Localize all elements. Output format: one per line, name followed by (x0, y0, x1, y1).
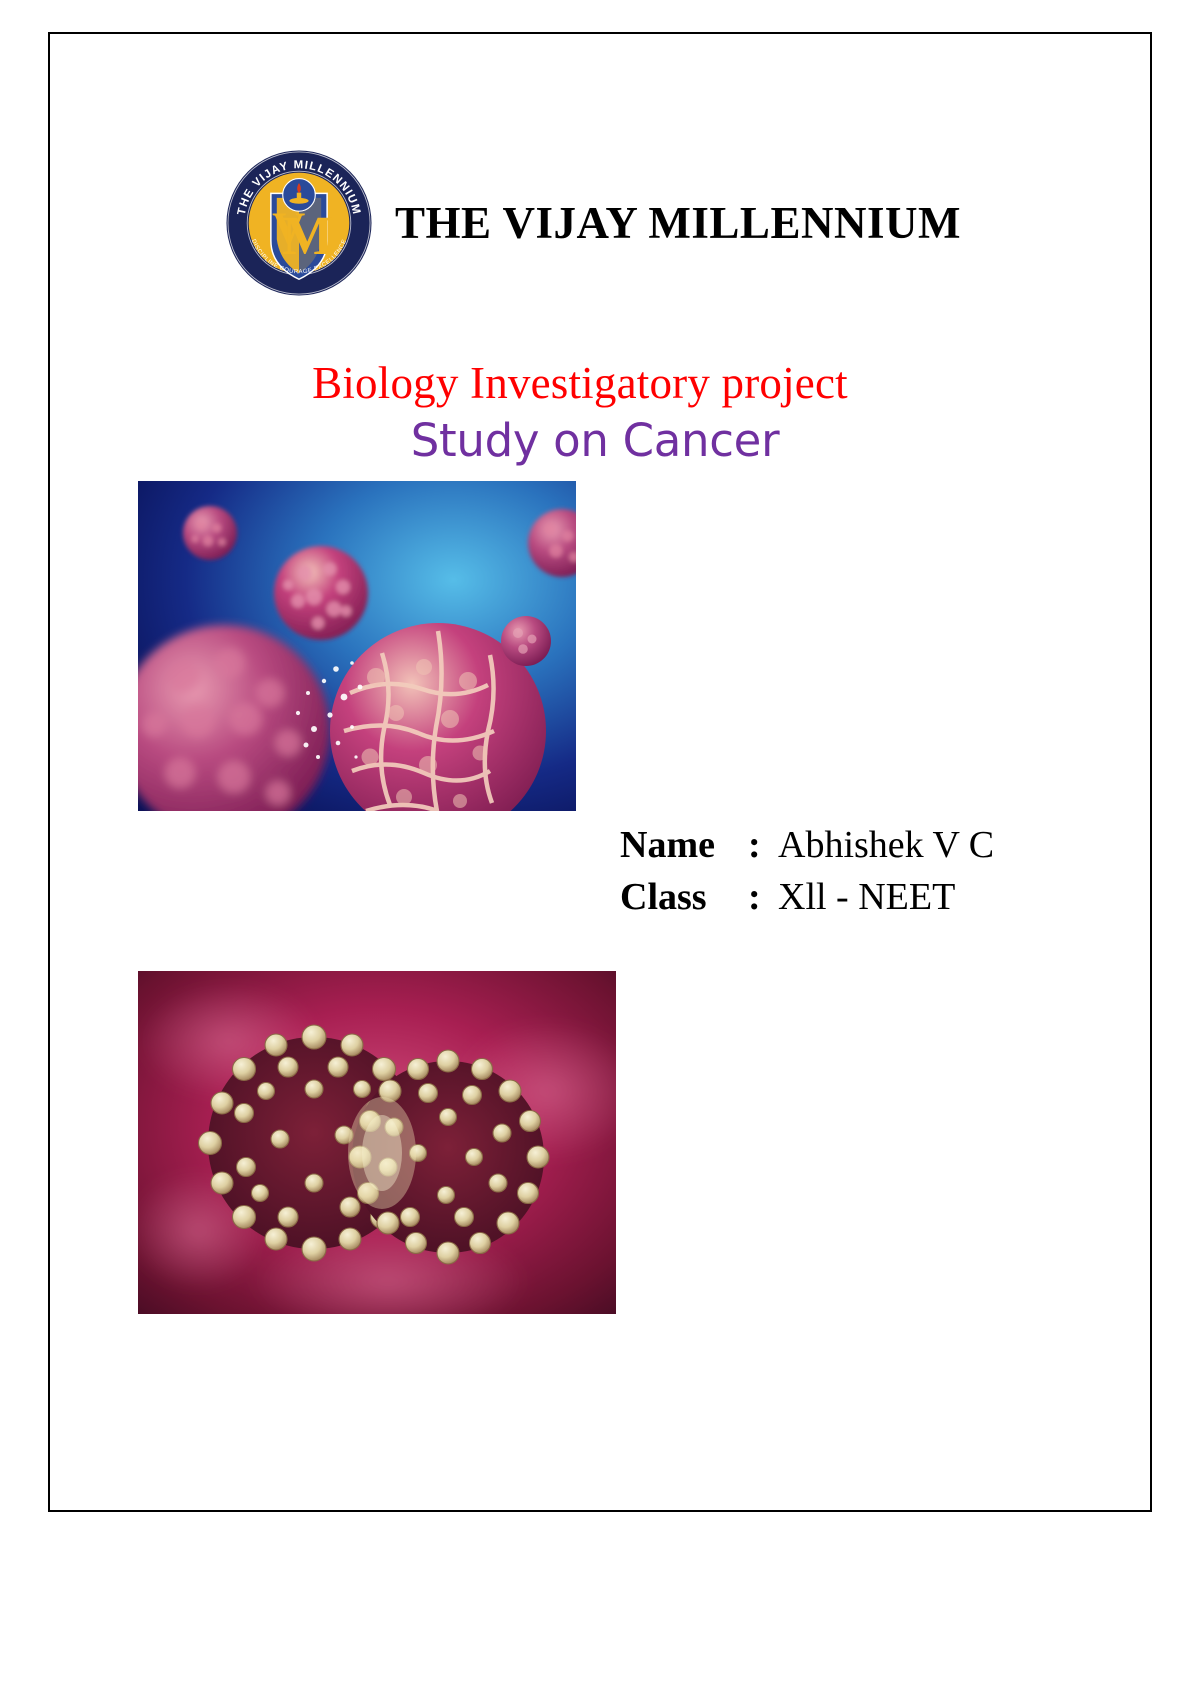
school-crest-logo: V M THE VIJAY MILLENNIUM DISCIPLINE COUR… (225, 149, 373, 297)
class-value: Xll - NEET (778, 872, 955, 924)
project-title: Biology Investigatory project (50, 357, 1150, 409)
header: V M THE VIJAY MILLENNIUM DISCIPLINE COUR… (50, 149, 1150, 297)
svg-text:M: M (282, 205, 334, 266)
subject-title: Study on Cancer (50, 414, 1150, 467)
name-colon: : (748, 820, 778, 872)
info-row-class: Class : Xll - NEET (620, 872, 994, 924)
dividing-cancer-cells-image (138, 971, 616, 1314)
name-label: Name (620, 820, 748, 872)
student-info-block: Name : Abhishek V C Class : Xll - NEET (620, 820, 994, 923)
class-colon: : (748, 872, 778, 924)
page-frame: V M THE VIJAY MILLENNIUM DISCIPLINE COUR… (48, 32, 1152, 1512)
cancer-cells-image (138, 481, 576, 811)
class-label: Class (620, 872, 748, 924)
name-value: Abhishek V C (778, 820, 994, 872)
info-row-name: Name : Abhishek V C (620, 820, 994, 872)
school-name-title: THE VIJAY MILLENNIUM (395, 197, 961, 249)
